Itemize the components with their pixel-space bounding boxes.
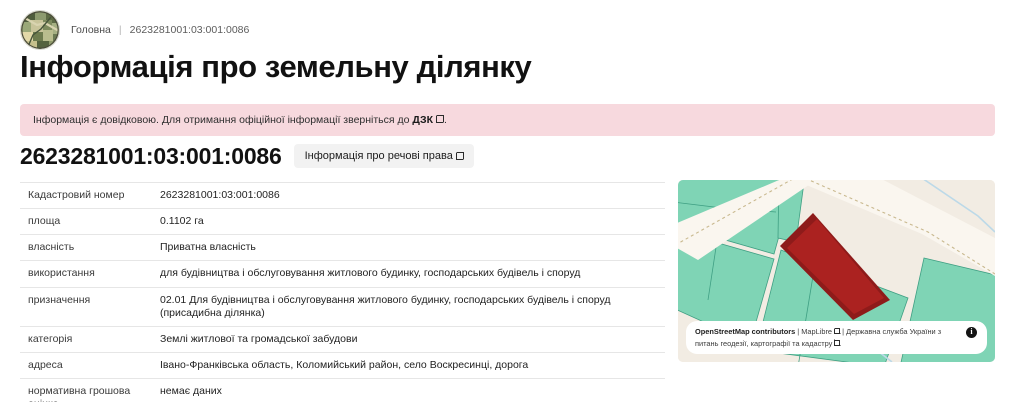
table-row: використання для будівництва і обслугову… [20, 261, 665, 287]
external-link-icon [834, 340, 840, 346]
external-link-icon [456, 152, 464, 160]
row-value: 02.01 Для будівництва і обслуговування ж… [160, 287, 665, 326]
row-value: Землі житлової та громадської забудови [160, 326, 665, 352]
alert-text-before: Інформація є довідковою. Для отримання о… [33, 114, 412, 126]
external-link-icon [436, 115, 444, 123]
cadastral-number-heading: 2623281001:03:001:0086 [20, 145, 282, 168]
row-value: Приватна власність [160, 235, 665, 261]
table-row: призначення 02.01 Для будівництва і обсл… [20, 287, 665, 326]
row-key: використання [20, 261, 160, 287]
alert-message: Інформація є довідковою. Для отримання о… [33, 115, 447, 126]
alert-text-after: . [444, 114, 447, 126]
header-bar: Головна | 2623281001:03:001:0086 [20, 10, 249, 50]
dzk-link[interactable]: ДЗК [412, 114, 444, 126]
page-root: Головна | 2623281001:03:001:0086 Інформа… [0, 0, 1024, 402]
table-row: Кадастровий номер 2623281001:03:001:0086 [20, 183, 665, 209]
row-value: Івано-Франківська область, Коломийський … [160, 352, 665, 378]
table-row: категорія Землі житлової та громадської … [20, 326, 665, 352]
info-alert: Інформація є довідковою. Для отримання о… [20, 104, 995, 136]
row-key: адреса [20, 352, 160, 378]
row-value: для будівництва і обслуговування житлово… [160, 261, 665, 287]
page-title: Інформація про земельну ділянку [20, 50, 531, 84]
breadcrumb-current: 2623281001:03:001:0086 [130, 24, 250, 36]
parcel-info-table: Кадастровий номер 2623281001:03:001:0086… [20, 182, 665, 402]
table-row: адреса Івано-Франківська область, Коломи… [20, 352, 665, 378]
row-key: Кадастровий номер [20, 183, 160, 209]
row-value: немає даних [160, 379, 665, 402]
maplibre-link-label: MapLibre [801, 327, 832, 336]
parcel-info-table-body: Кадастровий номер 2623281001:03:001:0086… [20, 183, 665, 402]
row-value: 2623281001:03:001:0086 [160, 183, 665, 209]
row-key: площа [20, 209, 160, 235]
row-value: 0.1102 га [160, 209, 665, 235]
property-rights-button-label: Інформація про речові права [305, 150, 453, 162]
map-attribution: OpenStreetMap contributors | MapLibre | … [686, 321, 987, 354]
external-link-icon [834, 328, 840, 334]
dzk-link-label: ДЗК [412, 114, 433, 126]
breadcrumb: Головна | 2623281001:03:001:0086 [71, 24, 249, 36]
row-key: нормативна грошова оцінка [20, 379, 160, 402]
table-row: нормативна грошова оцінка немає даних [20, 379, 665, 402]
osm-attribution-label: OpenStreetMap contributors [695, 327, 795, 336]
table-row: площа 0.1102 га [20, 209, 665, 235]
breadcrumb-home-link[interactable]: Головна [71, 24, 111, 36]
row-key: призначення [20, 287, 160, 326]
row-key: категорія [20, 326, 160, 352]
cadastral-map-logo-icon[interactable] [20, 10, 60, 50]
maplibre-link[interactable]: MapLibre [801, 327, 840, 336]
parcel-map[interactable]: OpenStreetMap contributors | MapLibre | … [678, 180, 995, 362]
info-icon[interactable]: i [966, 327, 977, 338]
row-key: власність [20, 235, 160, 261]
property-rights-button[interactable]: Інформація про речові права [294, 144, 474, 168]
breadcrumb-separator: | [119, 24, 122, 36]
parcel-heading-row: 2623281001:03:001:0086 Інформація про ре… [20, 144, 474, 168]
table-row: власність Приватна власність [20, 235, 665, 261]
map-attribution-text: OpenStreetMap contributors | MapLibre | … [695, 326, 960, 349]
